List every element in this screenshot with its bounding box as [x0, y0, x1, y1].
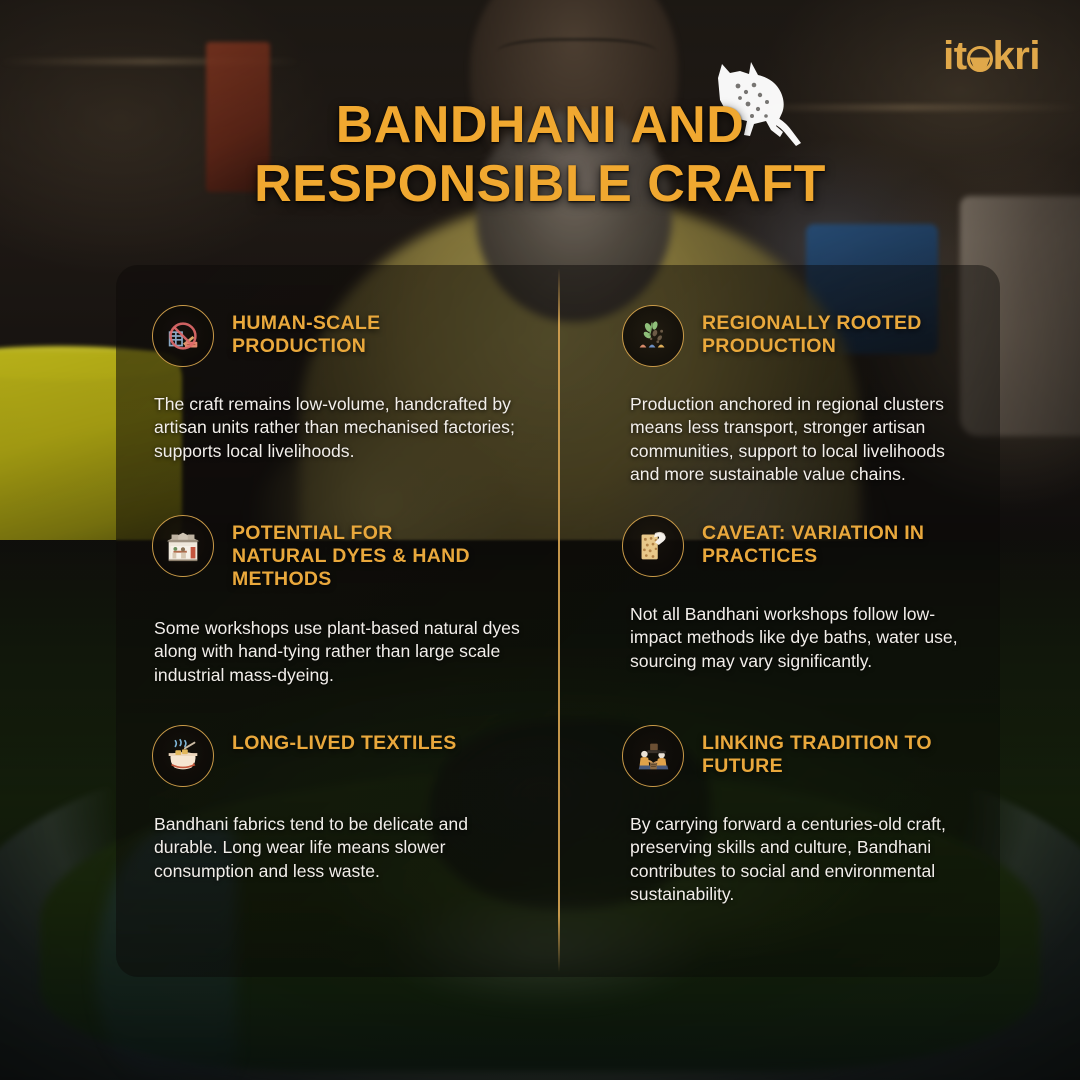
card-title: LONG-LIVED TEXTILES: [232, 725, 457, 755]
card-body: Production anchored in regional clusters…: [630, 393, 978, 487]
title-line-2: RESPONSIBLE CRAFT: [0, 155, 1080, 214]
title-line-1: BANDHANI AND: [0, 96, 1080, 155]
logo-text-pre: it: [943, 34, 966, 78]
feature-card: CAVEAT: VARIATION IN PRACTICES Not all B…: [558, 475, 1000, 685]
card-header: POTENTIAL FOR NATURAL DYES & HAND METHOD…: [152, 515, 524, 591]
seedling-sprout-icon: [622, 305, 684, 367]
basket-icon: [967, 46, 993, 72]
card-body: Bandhani fabrics tend to be delicate and…: [154, 813, 524, 883]
card-header: REGIONALLY ROOTED PRODUCTION: [622, 305, 978, 367]
infographic-poster: itkri BANDHANI AND RESPONSIBLE CRAFT: [0, 0, 1080, 1080]
page-title: BANDHANI AND RESPONSIBLE CRAFT: [0, 96, 1080, 215]
feature-card: POTENTIAL FOR NATURAL DYES & HAND METHOD…: [116, 475, 558, 685]
card-body: Not all Bandhani workshops follow low-im…: [630, 603, 978, 673]
itokri-logo[interactable]: itkri: [943, 36, 1040, 76]
no-factory-icon: [152, 305, 214, 367]
card-title: CAVEAT: VARIATION IN PRACTICES: [702, 515, 964, 568]
card-body: By carrying forward a centuries-old craf…: [630, 813, 978, 907]
logo-text-post: kri: [993, 34, 1040, 78]
card-header: CAVEAT: VARIATION IN PRACTICES: [622, 515, 978, 577]
steaming-dye-pot-icon: [152, 725, 214, 787]
feature-card: HUMAN-SCALE PRODUCTION The craft remains…: [116, 265, 558, 475]
card-body: The craft remains low-volume, handcrafte…: [154, 393, 524, 463]
hand-holding-fabric-icon: [622, 515, 684, 577]
card-body: Some workshops use plant-based natural d…: [154, 617, 524, 687]
feature-card: LINKING TRADITION TO FUTURE By carrying …: [558, 685, 1000, 923]
card-header: LINKING TRADITION TO FUTURE: [622, 725, 978, 787]
workshop-building-icon: [152, 515, 214, 577]
card-header: HUMAN-SCALE PRODUCTION: [152, 305, 524, 367]
card-title: LINKING TRADITION TO FUTURE: [702, 725, 964, 778]
card-title: REGIONALLY ROOTED PRODUCTION: [702, 305, 964, 358]
two-artisans-icon: [622, 725, 684, 787]
card-title: HUMAN-SCALE PRODUCTION: [232, 305, 484, 358]
feature-card: LONG-LIVED TEXTILES Bandhani fabrics ten…: [116, 685, 558, 923]
card-header: LONG-LIVED TEXTILES: [152, 725, 524, 787]
feature-card: REGIONALLY ROOTED PRODUCTION Production …: [558, 265, 1000, 475]
card-title: POTENTIAL FOR NATURAL DYES & HAND METHOD…: [232, 515, 484, 591]
feature-card-grid: HUMAN-SCALE PRODUCTION The craft remains…: [116, 265, 1000, 977]
